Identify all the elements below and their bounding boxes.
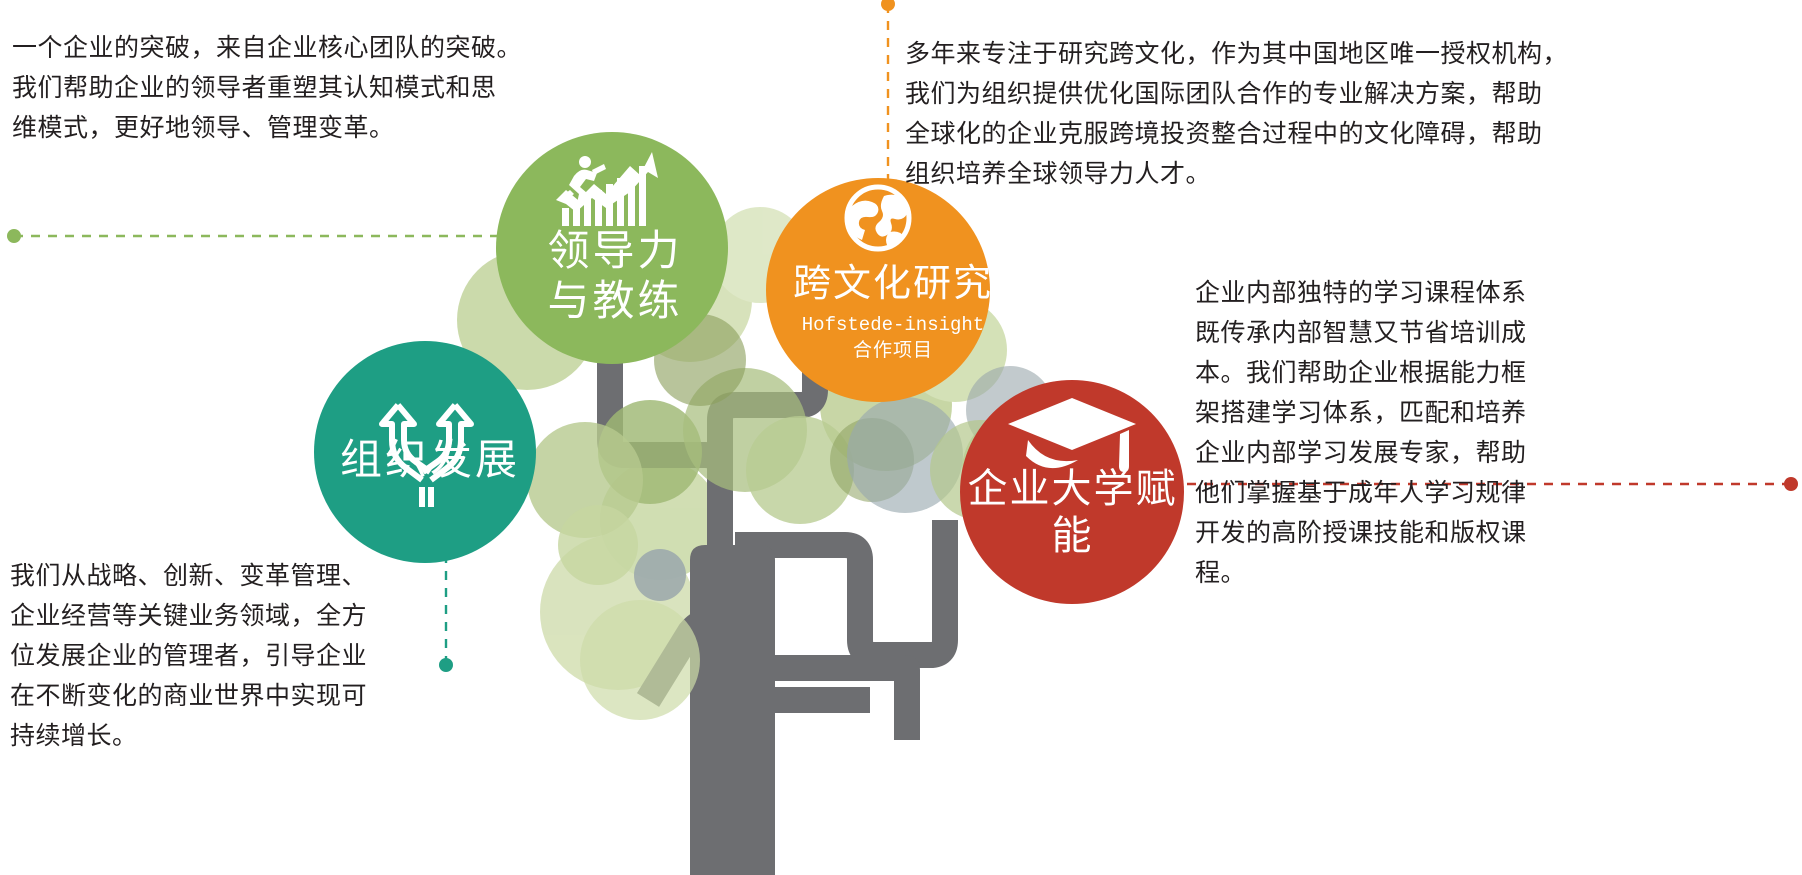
node-orgdev[interactable] — [314, 341, 536, 563]
orgdev-description: 我们从战略、创新、变革管理、 企业经营等关键业务领域，全方 位发展企业的管理者，… — [10, 556, 410, 756]
infographic-canvas: 领导力 与教练 跨文化研究 Hofstede-insight 合作项目 组织发展… — [0, 0, 1802, 875]
culture-description: 多年来专注于研究跨文化，作为其中国地区唯一授权机构， 我们为组织提供优化国际团队… — [905, 34, 1605, 194]
node-leadership[interactable] — [496, 132, 728, 364]
leadership-description: 一个企业的突破，来自企业核心团队的突破。 我们帮助企业的领导者重塑其认知模式和思… — [12, 28, 572, 148]
academy-description: 企业内部独特的学习课程体系 既传承内部智慧又节省培训成 本。我们帮助企业根据能力… — [1195, 273, 1595, 593]
